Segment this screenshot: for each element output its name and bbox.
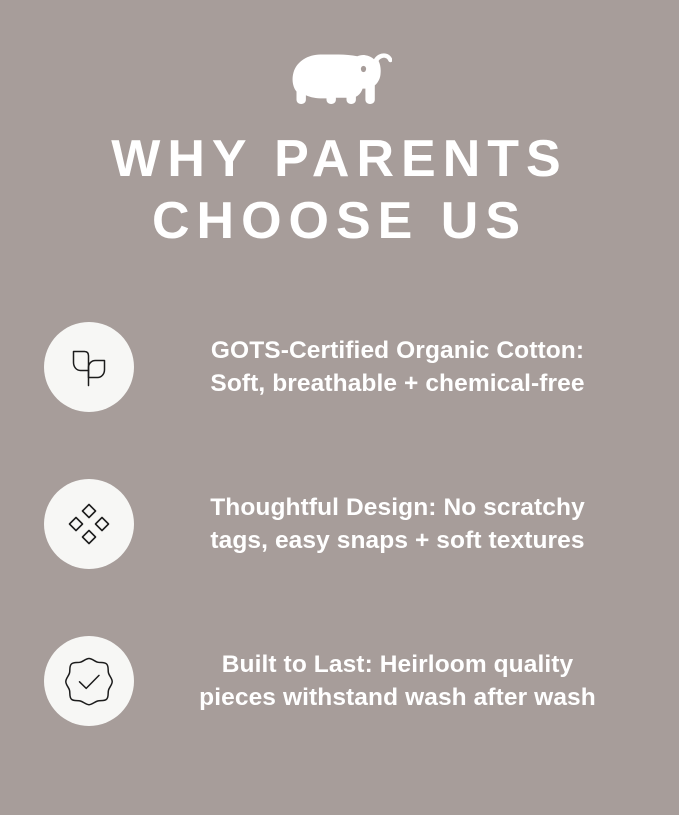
feature-text: GOTS-Certified Organic Cotton: Soft, bre… xyxy=(146,334,649,400)
feature-list: GOTS-Certified Organic Cotton: Soft, bre… xyxy=(0,288,679,759)
elephant-logo-icon xyxy=(288,38,392,106)
sprout-leaf-icon xyxy=(64,342,114,392)
brand-logo xyxy=(288,34,392,110)
feature-text-line-1: GOTS-Certified Organic Cotton: xyxy=(146,334,649,367)
check-badge-icon xyxy=(62,654,116,708)
feature-icon-badge xyxy=(44,636,134,726)
feature-text: Thoughtful Design: No scratchy tags, eas… xyxy=(146,491,649,557)
feature-text-line-1: Built to Last: Heirloom quality xyxy=(146,648,649,681)
feature-item-thoughtful-design: Thoughtful Design: No scratchy tags, eas… xyxy=(0,445,679,602)
why-parents-choose-us-panel: WHY PARENTS CHOOSE US GOTS-Certified Org… xyxy=(0,0,679,815)
feature-item-organic-cotton: GOTS-Certified Organic Cotton: Soft, bre… xyxy=(0,288,679,445)
page-title: WHY PARENTS CHOOSE US xyxy=(40,128,640,252)
feature-icon-badge xyxy=(44,479,134,569)
feature-text-line-1: Thoughtful Design: No scratchy xyxy=(146,491,649,524)
feature-item-built-to-last: Built to Last: Heirloom quality pieces w… xyxy=(0,602,679,759)
feature-text-line-2: tags, easy snaps + soft textures xyxy=(146,524,649,557)
feature-text-line-2: pieces withstand wash after wash xyxy=(146,681,649,714)
page-title-line-1: WHY PARENTS xyxy=(40,128,640,190)
four-diamonds-icon xyxy=(64,499,114,549)
feature-text: Built to Last: Heirloom quality pieces w… xyxy=(146,648,649,714)
feature-text-line-2: Soft, breathable + chemical-free xyxy=(146,367,649,400)
page-title-line-2: CHOOSE US xyxy=(40,190,640,252)
feature-icon-badge xyxy=(44,322,134,412)
